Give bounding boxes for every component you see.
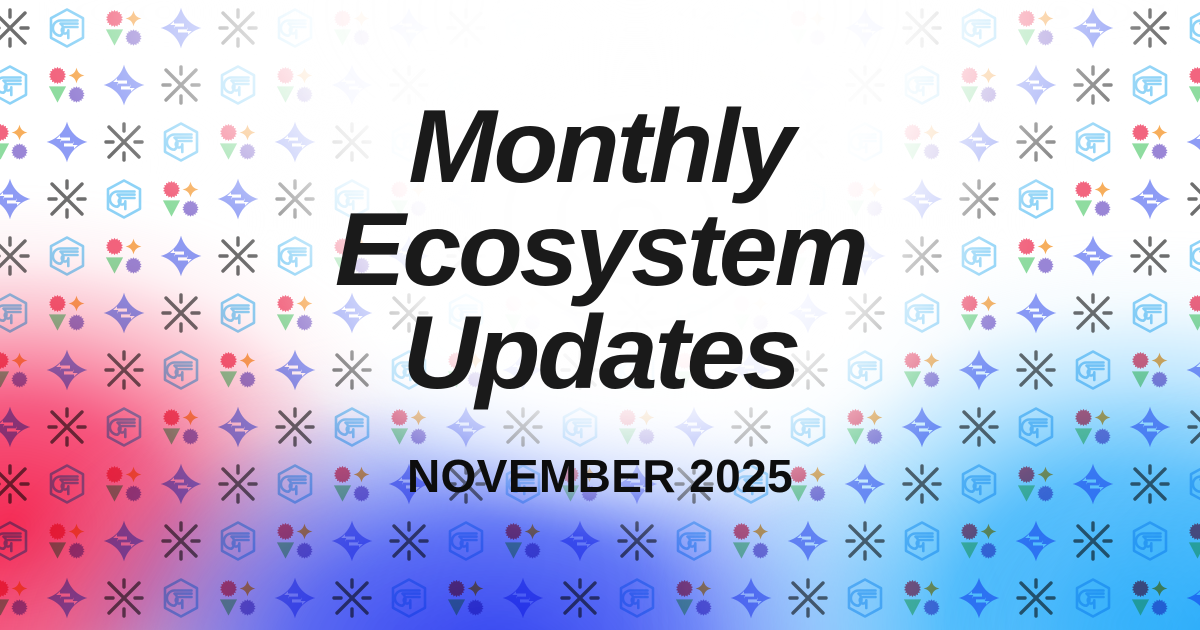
text-layer: Monthly Ecosystem Updates NOVEMBER 2025 [0,0,1200,630]
banner-graphic: Monthly Ecosystem Updates NOVEMBER 2025 [0,0,1200,630]
page-title: Monthly Ecosystem Updates [335,96,866,405]
headline-line-2: Ecosystem [335,199,866,302]
headline-line-3: Updates [335,302,866,405]
subtitle-date: NOVEMBER 2025 [407,449,793,503]
headline-line-1: Monthly [335,96,866,199]
